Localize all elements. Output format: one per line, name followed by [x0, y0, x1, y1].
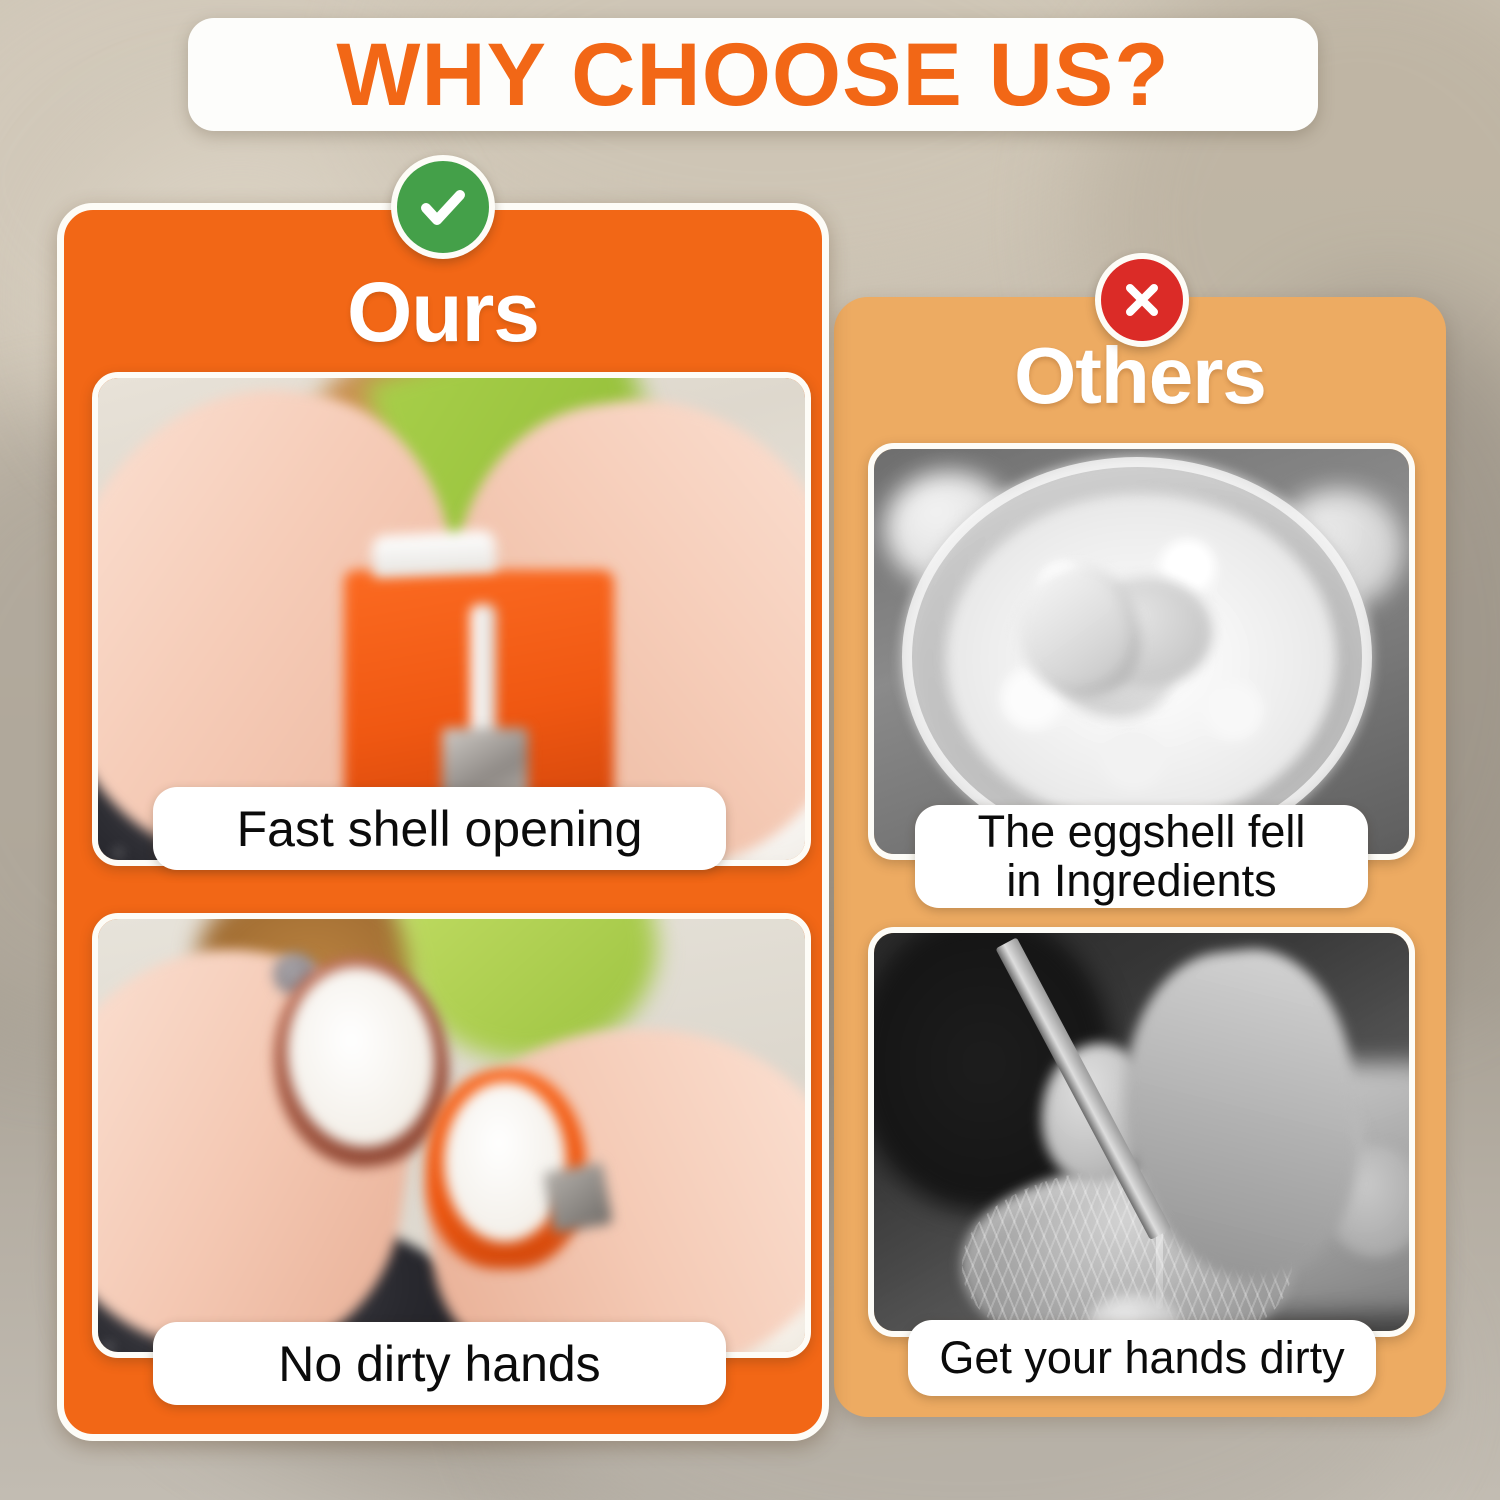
page-title: WHY CHOOSE US? [336, 30, 1169, 119]
caption-others-2: Get your hands dirty [908, 1320, 1376, 1396]
check-circle-icon [391, 155, 495, 259]
panel-heading-ours: Ours [64, 270, 822, 354]
title-banner: WHY CHOOSE US? [188, 18, 1318, 131]
caption-ours-1: Fast shell opening [153, 787, 726, 870]
infographic-canvas: WHY CHOOSE US? Others The eggshell fell … [0, 0, 1500, 1500]
panel-heading-others: Others [834, 336, 1446, 416]
photo-card-others-1 [868, 443, 1415, 860]
photo-card-others-2 [868, 927, 1415, 1337]
x-circle-icon [1095, 253, 1189, 347]
photo-card-ours-2 [92, 913, 811, 1358]
caption-others-1: The eggshell fell in Ingredients [915, 805, 1368, 908]
caption-ours-2: No dirty hands [153, 1322, 726, 1405]
